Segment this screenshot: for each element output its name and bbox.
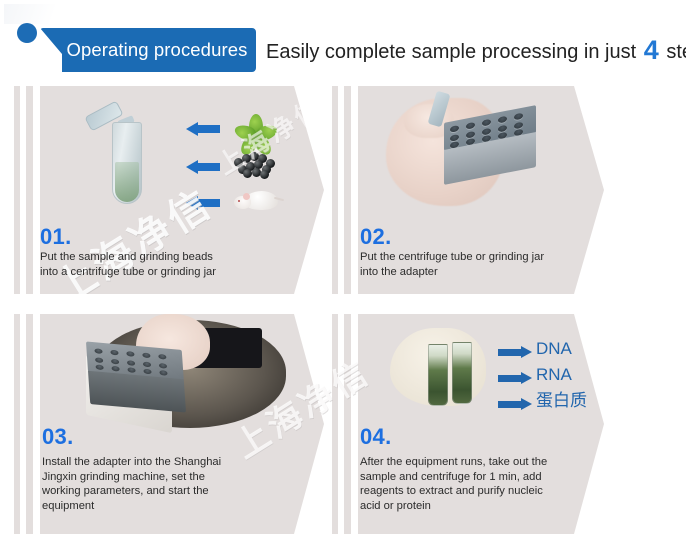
tube-liquid-icon xyxy=(115,162,139,202)
output-label-dna: DNA xyxy=(536,340,572,357)
card-accent-bar xyxy=(344,86,351,294)
step-number: 02. xyxy=(360,226,391,248)
grinding-beads-icon xyxy=(232,150,280,178)
green-leaf-icon xyxy=(236,110,276,146)
step-description: Put the sample and grinding beads into a… xyxy=(40,250,290,279)
bullet-dot-icon xyxy=(17,23,37,43)
operating-procedures-tag: Operating procedures xyxy=(40,28,256,72)
step-description: Install the adapter into the Shanghai Ji… xyxy=(42,455,267,513)
step-number: 01. xyxy=(40,226,71,248)
step-number: 03. xyxy=(42,426,73,448)
sample-vial-icon xyxy=(452,342,472,404)
card-accent-bar xyxy=(26,86,33,294)
operating-procedures-tag-label: Operating procedures xyxy=(49,39,248,61)
arrow-left-icon xyxy=(186,122,220,136)
card-accent-bar xyxy=(26,314,33,534)
centrifuge-tube-icon xyxy=(78,104,168,214)
step-number: 04. xyxy=(360,426,391,448)
header: Operating procedures Easily complete sam… xyxy=(0,0,686,82)
operating-procedures-infographic: Operating procedures Easily complete sam… xyxy=(0,0,686,538)
card-accent-bar xyxy=(344,314,351,534)
arrow-right-icon xyxy=(498,372,532,384)
headline-prefix: Easily complete sample processing in jus… xyxy=(266,41,642,63)
sample-vial-icon xyxy=(428,344,448,406)
arrow-right-icon xyxy=(498,346,532,358)
card-accent-bar xyxy=(332,314,338,534)
card-accent-bar xyxy=(14,86,20,294)
step-card-04: DNA RNA 蛋白质 上海净信 04. After the equipment… xyxy=(332,314,604,534)
arrow-left-icon xyxy=(186,196,220,210)
step-description: After the equipment runs, take out the s… xyxy=(360,455,575,513)
output-label-rna: RNA xyxy=(536,366,572,383)
tube-body-icon xyxy=(112,122,142,204)
arrow-right-icon xyxy=(498,398,532,410)
arrow-left-icon xyxy=(186,160,220,174)
output-label-protein: 蛋白质 xyxy=(536,392,587,409)
card-accent-bar xyxy=(332,86,338,294)
step-description: Put the centrifuge tube or grinding jar … xyxy=(360,250,575,279)
step-card-01: 上海净信 上海净信 01. Put the sample and grindin… xyxy=(14,86,324,294)
headline-step-count: 4 xyxy=(642,35,661,65)
headline: Easily complete sample processing in jus… xyxy=(266,30,686,72)
headline-suffix: steps: xyxy=(661,41,686,63)
adapter-block-icon xyxy=(86,341,186,412)
card-accent-bar xyxy=(14,314,20,534)
step-card-02: 上海净信 上海净信 02. Put the centrifuge tube or… xyxy=(332,86,604,294)
header-corner-accent xyxy=(4,4,74,24)
lab-mouse-icon xyxy=(232,186,282,214)
steps-grid: 上海净信 上海净信 01. Put the sample and grindin… xyxy=(0,82,686,538)
step-card-03: 上海净信 上海净信 03. Install the adapter into t… xyxy=(14,314,324,534)
